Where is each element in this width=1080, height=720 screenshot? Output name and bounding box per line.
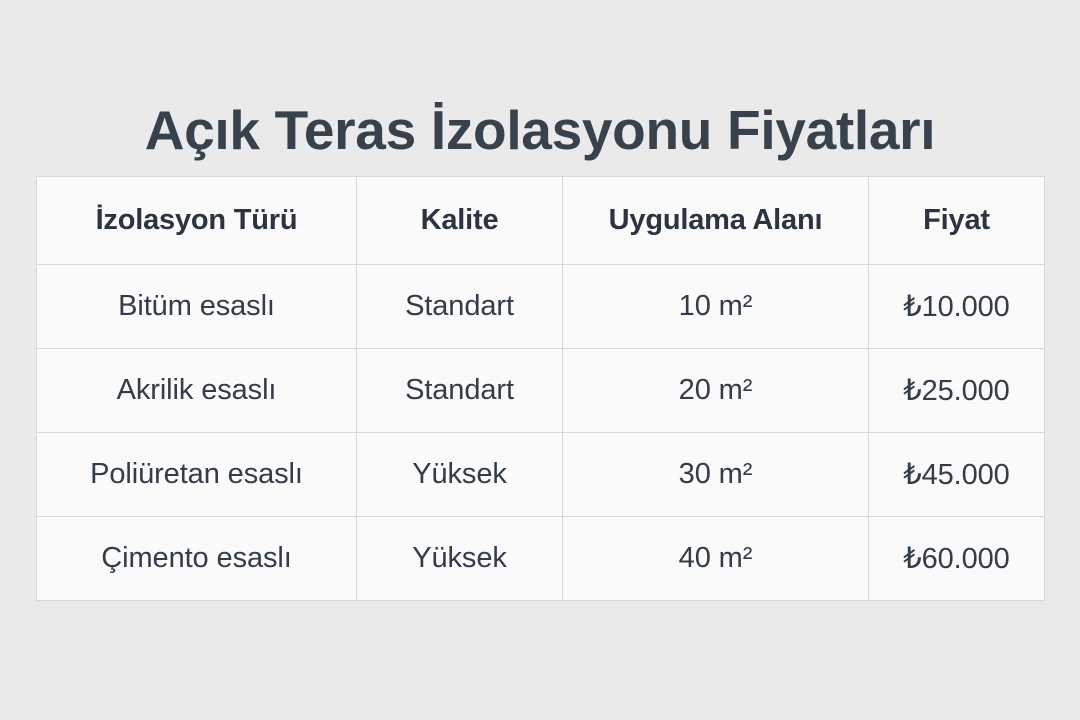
cell-kalite: Standart [357,265,563,349]
column-header-kalite: Kalite [357,177,563,265]
table-row: Çimento esaslı Yüksek 40 m² ₺60.000 [37,517,1045,601]
column-header-uygulama-alani: Uygulama Alanı [563,177,869,265]
table-header-row: İzolasyon Türü Kalite Uygulama Alanı Fiy… [37,177,1045,265]
cell-kalite: Yüksek [357,433,563,517]
price-table: İzolasyon Türü Kalite Uygulama Alanı Fiy… [36,176,1045,601]
cell-izolasyon-turu: Bitüm esaslı [37,265,357,349]
cell-fiyat: ₺10.000 [869,265,1045,349]
column-header-izolasyon-turu: İzolasyon Türü [37,177,357,265]
table-body: Bitüm esaslı Standart 10 m² ₺10.000 Akri… [37,265,1045,601]
table-row: Akrilik esaslı Standart 20 m² ₺25.000 [37,349,1045,433]
table-header: İzolasyon Türü Kalite Uygulama Alanı Fiy… [37,177,1045,265]
cell-fiyat: ₺45.000 [869,433,1045,517]
cell-kalite: Standart [357,349,563,433]
cell-uygulama-alani: 40 m² [563,517,869,601]
cell-fiyat: ₺25.000 [869,349,1045,433]
column-header-fiyat: Fiyat [869,177,1045,265]
table-row: Bitüm esaslı Standart 10 m² ₺10.000 [37,265,1045,349]
page-root: Açık Teras İzolasyonu Fiyatları İzolasyo… [0,0,1080,720]
cell-uygulama-alani: 20 m² [563,349,869,433]
cell-kalite: Yüksek [357,517,563,601]
cell-uygulama-alani: 10 m² [563,265,869,349]
cell-izolasyon-turu: Poliüretan esaslı [37,433,357,517]
cell-uygulama-alani: 30 m² [563,433,869,517]
cell-izolasyon-turu: Akrilik esaslı [37,349,357,433]
cell-izolasyon-turu: Çimento esaslı [37,517,357,601]
price-table-container: İzolasyon Türü Kalite Uygulama Alanı Fiy… [36,176,1044,601]
page-title: Açık Teras İzolasyonu Fiyatları [0,99,1080,162]
table-row: Poliüretan esaslı Yüksek 30 m² ₺45.000 [37,433,1045,517]
cell-fiyat: ₺60.000 [869,517,1045,601]
